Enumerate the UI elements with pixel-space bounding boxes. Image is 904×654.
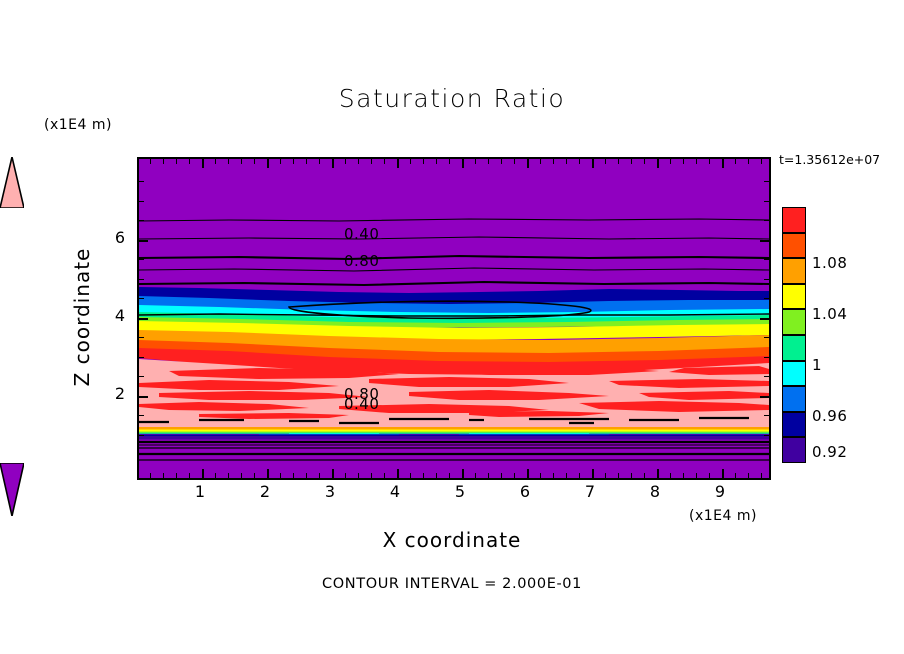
y-tick-label-6: 6	[95, 228, 125, 247]
x-tick-label-8: 8	[640, 482, 670, 501]
x-tick-top-minor	[241, 159, 242, 164]
x-tick-top-minor	[514, 159, 515, 164]
y-tick-6	[139, 240, 148, 242]
x-tick-top	[592, 159, 594, 168]
x-tick-label-9: 9	[705, 482, 735, 501]
x-tick-minor	[540, 473, 541, 478]
y-tick-minor	[139, 259, 144, 260]
x-tick-top-minor	[423, 159, 424, 164]
y-tick-minor	[139, 435, 144, 436]
x-tick-top-minor	[436, 159, 437, 164]
y-tick-right-minor	[764, 201, 769, 202]
x-tick-top-minor	[644, 159, 645, 164]
time-annotation: t=1.35612e+07	[779, 152, 880, 167]
contour-label-lower-040: 0.40	[344, 397, 379, 412]
x-tick-top-minor	[683, 159, 684, 164]
contour-plot-frame: 0.40 0.80 0.80 0.40	[137, 157, 771, 480]
x-tick-top-minor	[306, 159, 307, 164]
x-tick-minor	[423, 473, 424, 478]
x-tick-minor	[228, 473, 229, 478]
y-tick-minor	[139, 220, 144, 221]
x-tick-top-minor	[579, 159, 580, 164]
colorbar-bands	[782, 207, 806, 463]
x-tick-top	[462, 159, 464, 168]
y-tick-4	[139, 318, 148, 320]
x-tick-minor	[449, 473, 450, 478]
y-tick-minor	[139, 357, 144, 358]
y-tick-right-minor	[764, 259, 769, 260]
y-tick-right-minor	[764, 435, 769, 436]
y-tick-right-minor	[764, 220, 769, 221]
x-tick-8	[657, 469, 659, 478]
x-tick-minor	[436, 473, 437, 478]
x-tick-label-1: 1	[185, 482, 215, 501]
y-tick-right-minor	[764, 181, 769, 182]
colorbar-band-10	[782, 437, 806, 463]
x-tick-top	[267, 159, 269, 168]
x-tick-minor	[735, 473, 736, 478]
y-tick-minor	[139, 298, 144, 299]
y-tick-right-minor	[764, 337, 769, 338]
x-tick-minor	[566, 473, 567, 478]
y-tick-right-minor	[764, 298, 769, 299]
colorbar-band-7	[782, 361, 806, 387]
x-tick-top-minor	[605, 159, 606, 164]
x-tick-top-minor	[488, 159, 489, 164]
x-tick-3	[332, 469, 334, 478]
colorbar-band-6	[782, 335, 806, 361]
colorbar-label-1: 1	[812, 356, 822, 374]
x-tick-5	[462, 469, 464, 478]
x-tick-top	[397, 159, 399, 168]
x-tick-top-minor	[553, 159, 554, 164]
x-tick-top-minor	[228, 159, 229, 164]
y-tick-minor	[139, 201, 144, 202]
x-tick-top-minor	[696, 159, 697, 164]
x-tick-minor	[748, 473, 749, 478]
x-tick-minor	[761, 473, 762, 478]
x-tick-minor	[345, 473, 346, 478]
colorbar-label-096: 0.96	[812, 407, 847, 425]
y-tick-right-minor	[764, 376, 769, 377]
x-tick-top	[527, 159, 529, 168]
x-tick-top-minor	[631, 159, 632, 164]
x-tick-7	[592, 469, 594, 478]
x-tick-top	[657, 159, 659, 168]
x-tick-minor	[475, 473, 476, 478]
y-tick-minor	[139, 376, 144, 377]
x-tick-minor	[553, 473, 554, 478]
x-tick-minor	[280, 473, 281, 478]
x-tick-label-3: 3	[315, 482, 345, 501]
y-tick-minor	[139, 181, 144, 182]
colorbar-band-1	[782, 207, 806, 233]
x-tick-top	[332, 159, 334, 168]
x-tick-minor	[670, 473, 671, 478]
x-tick-minor	[501, 473, 502, 478]
x-tick-minor	[371, 473, 372, 478]
colorbar-label-104: 1.04	[812, 305, 847, 323]
y-tick-2	[139, 396, 148, 398]
colorbar-band-9	[782, 412, 806, 438]
y-tick-right	[760, 318, 769, 320]
y-tick-right-minor	[764, 454, 769, 455]
contour-field: 0.40 0.80 0.80 0.40	[139, 159, 769, 478]
x-tick-top-minor	[293, 159, 294, 164]
x-tick-label-7: 7	[575, 482, 605, 501]
x-tick-top-minor	[358, 159, 359, 164]
x-tick-1	[202, 469, 204, 478]
x-tick-minor	[696, 473, 697, 478]
x-tick-minor	[410, 473, 411, 478]
x-tick-minor	[306, 473, 307, 478]
colorbar-label-092: 0.92	[812, 443, 847, 461]
x-tick-top-minor	[319, 159, 320, 164]
x-tick-top-minor	[618, 159, 619, 164]
x-tick-minor	[319, 473, 320, 478]
colorbar-band-3	[782, 258, 806, 284]
contour-label-upper-040: 0.40	[344, 227, 379, 242]
x-tick-top-minor	[163, 159, 164, 164]
saturation-field-svg	[139, 159, 769, 478]
x-tick-minor	[150, 473, 151, 478]
x-tick-label-6: 6	[510, 482, 540, 501]
y-tick-right-minor	[764, 357, 769, 358]
x-tick-minor	[215, 473, 216, 478]
colorbar-label-108: 1.08	[812, 254, 847, 272]
x-tick-top-minor	[748, 159, 749, 164]
x-tick-minor	[631, 473, 632, 478]
x-tick-minor	[618, 473, 619, 478]
x-tick-minor	[644, 473, 645, 478]
y-tick-right	[760, 240, 769, 242]
x-tick-minor	[254, 473, 255, 478]
figure-canvas: Saturation Ratio (x1E4 m) t=1.35612e+07	[0, 0, 904, 654]
x-tick-top-minor	[670, 159, 671, 164]
y-tick-label-4: 4	[95, 306, 125, 325]
x-tick-4	[397, 469, 399, 478]
y-tick-minor	[139, 279, 144, 280]
x-tick-top-minor	[761, 159, 762, 164]
x-tick-minor	[605, 473, 606, 478]
x-tick-top-minor	[254, 159, 255, 164]
y-tick-right	[760, 396, 769, 398]
x-tick-top	[202, 159, 204, 168]
x-tick-2	[267, 469, 269, 478]
colorbar-band-8	[782, 386, 806, 412]
colorbar-over-cap	[0, 157, 24, 208]
x-tick-minor	[683, 473, 684, 478]
x-tick-top-minor	[150, 159, 151, 164]
x-axis-unit-label: (x1E4 m)	[689, 508, 757, 524]
x-tick-top-minor	[176, 159, 177, 164]
x-tick-minor	[709, 473, 710, 478]
x-tick-minor	[384, 473, 385, 478]
x-tick-top-minor	[475, 159, 476, 164]
y-axis-title: Z coordinate	[70, 217, 94, 417]
x-tick-minor	[514, 473, 515, 478]
y-tick-minor	[139, 337, 144, 338]
x-tick-top-minor	[410, 159, 411, 164]
x-axis-title: X coordinate	[0, 528, 904, 552]
x-tick-top-minor	[345, 159, 346, 164]
page-title: Saturation Ratio	[0, 84, 904, 113]
x-tick-6	[527, 469, 529, 478]
x-tick-top-minor	[384, 159, 385, 164]
x-tick-label-5: 5	[445, 482, 475, 501]
x-tick-9	[722, 469, 724, 478]
colorbar-band-4	[782, 284, 806, 310]
x-tick-minor	[241, 473, 242, 478]
x-tick-top-minor	[735, 159, 736, 164]
x-tick-top	[722, 159, 724, 168]
colorbar-band-5	[782, 309, 806, 335]
colorbar-band-2	[782, 233, 806, 259]
x-tick-label-4: 4	[380, 482, 410, 501]
contour-label-upper-080: 0.80	[344, 254, 379, 269]
x-tick-top-minor	[540, 159, 541, 164]
x-tick-top-minor	[189, 159, 190, 164]
x-tick-top-minor	[280, 159, 281, 164]
x-tick-minor	[358, 473, 359, 478]
x-tick-top-minor	[371, 159, 372, 164]
x-tick-minor	[176, 473, 177, 478]
x-tick-minor	[488, 473, 489, 478]
y-tick-label-2: 2	[95, 384, 125, 403]
x-tick-top-minor	[215, 159, 216, 164]
y-axis-unit-label: (x1E4 m)	[44, 117, 112, 133]
contour-interval-caption: CONTOUR INTERVAL = 2.000E-01	[0, 576, 904, 592]
y-tick-minor	[139, 454, 144, 455]
x-tick-top-minor	[449, 159, 450, 164]
x-tick-label-2: 2	[250, 482, 280, 501]
y-tick-right-minor	[764, 415, 769, 416]
y-tick-right-minor	[764, 279, 769, 280]
x-tick-minor	[293, 473, 294, 478]
y-tick-minor	[139, 415, 144, 416]
x-tick-top-minor	[566, 159, 567, 164]
x-tick-minor	[163, 473, 164, 478]
x-tick-top-minor	[501, 159, 502, 164]
x-tick-minor	[579, 473, 580, 478]
colorbar-under-cap	[0, 463, 24, 516]
x-tick-top-minor	[709, 159, 710, 164]
x-tick-minor	[189, 473, 190, 478]
